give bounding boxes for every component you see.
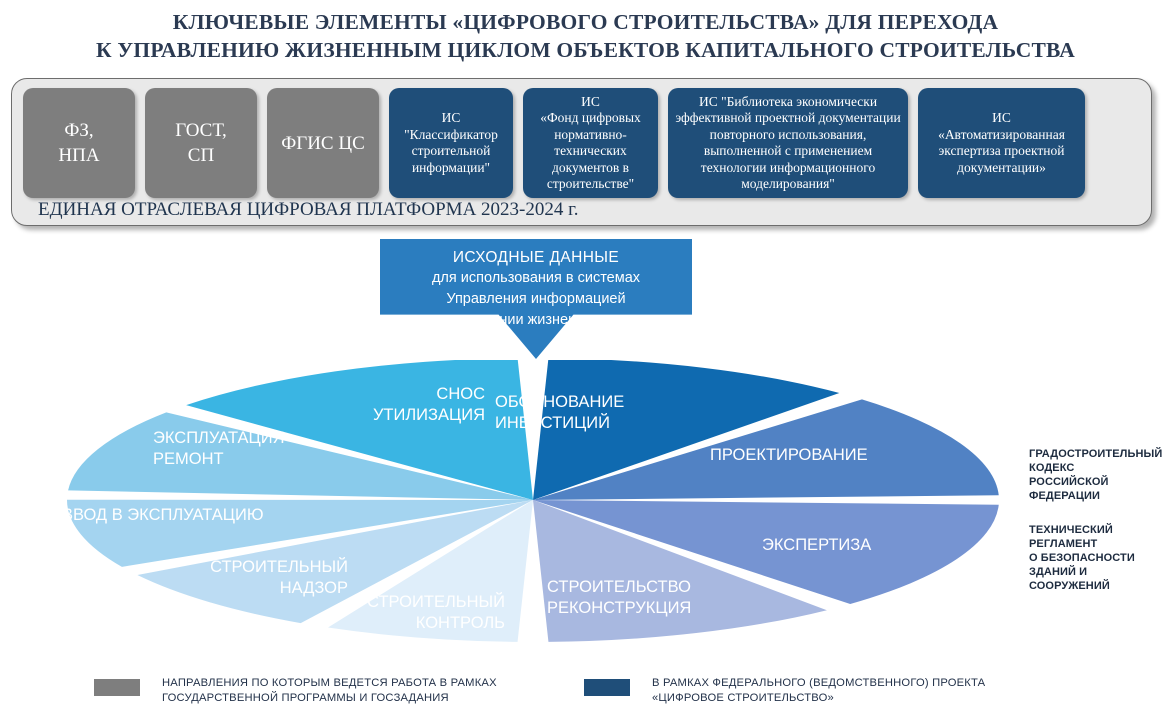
platform-box-gost-sp-line-1: ГОСТ, [175,118,227,143]
legend-swatch-gray [94,679,140,696]
source-data-arrow-line-2: для использования в системах [380,268,692,289]
legend-item-gosprogramma: НАПРАВЛЕНИЯ ПО КОТОРЫМ ВЕДЕТСЯ РАБОТА В … [94,676,497,706]
platform-box-fz-npa[interactable]: ФЗ, НПА [23,88,135,198]
lifecycle-wheel: ОБОСНОВАНИЕ ИНВЕСТИЦИЙ ПРОЕКТИРОВАНИЕ ЭК… [40,360,1000,660]
source-data-arrow-line-1: ИСХОДНЫЕ ДАННЫЕ [380,247,692,268]
platform-box-fgis-cs-label: ФГИС ЦС [281,131,365,156]
platform-box-fgis-cs[interactable]: ФГИС ЦС [267,88,379,198]
platform-box-row: ФЗ, НПА ГОСТ, СП ФГИС ЦС ИС "Классификат… [23,88,1142,198]
platform-box-is-fond-body: «Фонд цифровых нормативно-технических до… [529,110,652,193]
page-title-line-2: К УПРАВЛЕНИЮ ЖИЗНЕННЫМ ЦИКЛОМ ОБЪЕКТОВ К… [0,36,1171,64]
platform-caption: ЕДИНАЯ ОТРАСЛЕВАЯ ЦИФРОВАЯ ПЛАТФОРМА 202… [38,199,579,221]
source-data-arrow-text: ИСХОДНЫЕ ДАННЫЕ для использования в сист… [380,247,692,331]
platform-box-gost-sp-line-2: СП [175,143,227,168]
platform-box-is-avtoexpertiza-head: ИС [924,110,1079,127]
platform-box-is-klassifikator-head: ИС [395,110,507,127]
legend-text-federalny-proekt-line-2: «ЦИФРОВОЕ СТРОИТЕЛЬСТВО» [652,691,985,706]
source-data-arrow: ИСХОДНЫЕ ДАННЫЕ для использования в сист… [380,239,692,359]
platform-box-gost-sp[interactable]: ГОСТ, СП [145,88,257,198]
platform-box-is-avtoexpertiza[interactable]: ИС «Автоматизированная экспертиза проект… [918,88,1085,198]
note-gradostroitelny-kodeks: ГРАДОСТРОИТЕЛЬНЫЙКОДЕКСРОССИЙСКОЙФЕДЕРАЦ… [1029,447,1162,503]
platform-box-fz-npa-line-2: НПА [58,143,99,168]
source-data-arrow-line-3: Управления информацией [380,289,692,310]
platform-box-is-fond-head: ИС [529,94,652,111]
platform-box-is-biblioteka[interactable]: ИС "Библиотека экономически эффективной … [668,88,908,198]
legend-text-gosprogramma: НАПРАВЛЕНИЯ ПО КОТОРЫМ ВЕДЕТСЯ РАБОТА В … [162,676,497,706]
legend-text-federalny-proekt: В РАМКАХ ФЕДЕРАЛЬНОГО (ВЕДОМСТВЕННОГО) П… [652,676,985,706]
legend-text-federalny-proekt-line-1: В РАМКАХ ФЕДЕРАЛЬНОГО (ВЕДОМСТВЕННОГО) П… [652,676,985,691]
note-tehnicheskiy-reglament: ТЕХНИЧЕСКИЙРЕГЛАМЕНТО БЕЗОПАСНОСТИЗДАНИЙ… [1029,523,1135,593]
legend-text-gosprogramma-line-1: НАПРАВЛЕНИЯ ПО КОТОРЫМ ВЕДЕТСЯ РАБОТА В … [162,676,497,691]
platform-panel: ФЗ, НПА ГОСТ, СП ФГИС ЦС ИС "Классификат… [11,78,1152,226]
platform-box-is-avtoexpertiza-body: «Автоматизированная экспертиза проектной… [924,127,1079,177]
legend-text-gosprogramma-line-2: ГОСУДАРСТВЕННОЙ ПРОГРАММЫ И ГОСЗАДАНИЯ [162,691,497,706]
legend-swatch-blue [584,679,630,696]
lifecycle-wheel-svg [40,360,1000,660]
platform-box-is-klassifikator-body: "Классификатор строительной информации" [395,127,507,177]
page-title: КЛЮЧЕВЫЕ ЭЛЕМЕНТЫ «ЦИФРОВОГО СТРОИТЕЛЬСТ… [0,8,1171,64]
platform-box-fz-npa-line-1: ФЗ, [58,118,99,143]
legend-item-federalny-proekt: В РАМКАХ ФЕДЕРАЛЬНОГО (ВЕДОМСТВЕННОГО) П… [584,676,985,706]
page-title-line-1: КЛЮЧЕВЫЕ ЭЛЕМЕНТЫ «ЦИФРОВОГО СТРОИТЕЛЬСТ… [0,8,1171,36]
source-data-arrow-line-4: на протяжении жизненного цикла [380,310,692,331]
platform-box-is-klassifikator[interactable]: ИС "Классификатор строительной информаци… [389,88,513,198]
platform-box-is-fond[interactable]: ИС «Фонд цифровых нормативно-технических… [523,88,658,198]
platform-box-is-biblioteka-body: ИС "Библиотека экономически эффективной … [674,94,902,193]
